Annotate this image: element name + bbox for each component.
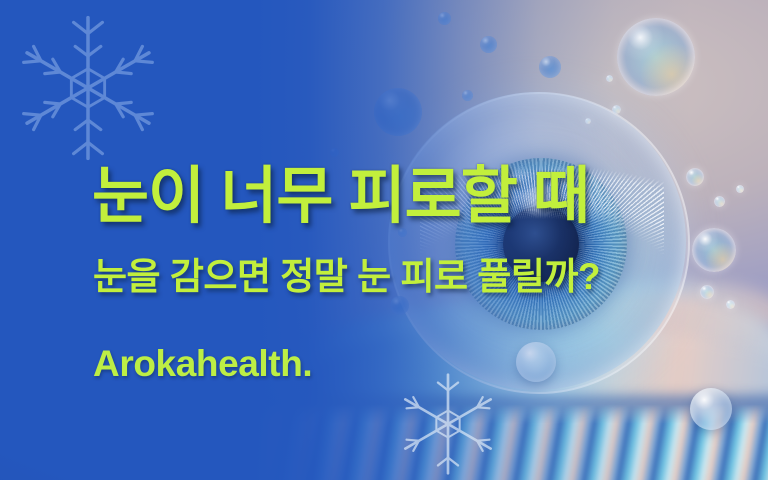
page-subtitle: 눈을 감으면 정말 눈 피로 풀릴까?	[93, 258, 600, 295]
brand-logo-text: Arokahealth.	[93, 345, 312, 382]
page-title: 눈이 너무 피로할 때	[92, 166, 589, 228]
banner-card: 눈이 너무 피로할 때 눈을 감으면 정말 눈 피로 풀릴까? Arokahea…	[0, 0, 768, 480]
text-block: 눈이 너무 피로할 때 눈을 감으면 정말 눈 피로 풀릴까? Arokahea…	[0, 0, 768, 480]
